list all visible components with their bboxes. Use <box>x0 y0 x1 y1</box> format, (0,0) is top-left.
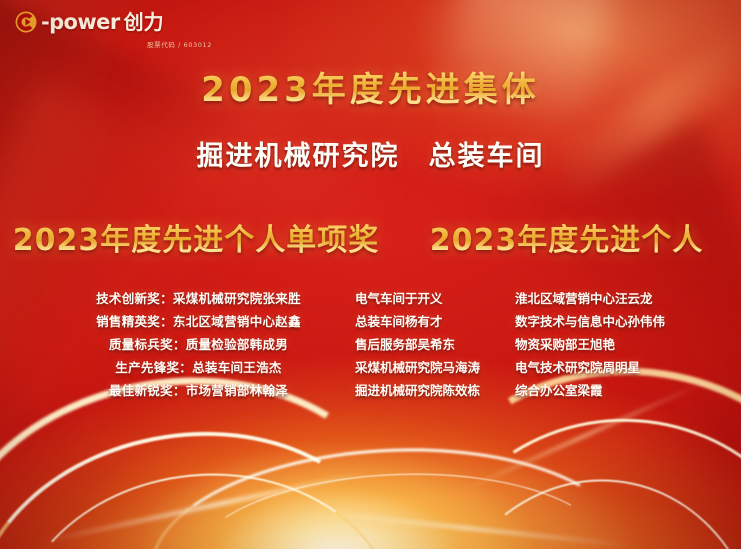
list-item: 最佳新锐奖：市场营销部林翰泽 <box>42 379 355 402</box>
list-item-name: 综合办公室梁霞 <box>515 379 725 402</box>
list-item-name: 电气车间于开义 <box>355 287 515 310</box>
section-heading-individual: 2023年度先进个人 <box>392 215 741 259</box>
list-item: 掘进机械研究院陈效栋 综合办公室梁霞 <box>355 379 741 402</box>
list-item-name: 物资采购部王旭艳 <box>515 333 725 356</box>
section-heading-special-award: 2023年度先进个人单项奖 <box>0 215 392 259</box>
logo-wordmark-cn: 创力 <box>124 12 164 32</box>
individual-award-list: 电气车间于开义 淮北区域营销中心汪云龙 总装车间杨有才 数字技术与信息中心孙伟伟… <box>355 287 741 402</box>
list-item-name: 掘进机械研究院陈效栋 <box>355 379 515 402</box>
section-headings: 2023年度先进个人单项奖 2023年度先进个人 <box>0 215 741 259</box>
list-item-name: 电气技术研究院周明星 <box>515 356 725 379</box>
list-item: 销售精英奖：东北区域营销中心赵鑫 <box>42 310 355 333</box>
list-item: 生产先锋奖：总装车间王浩杰 <box>42 356 355 379</box>
list-item-name: 采煤机械研究院马海涛 <box>355 356 515 379</box>
list-item-name: 售后服务部吴希东 <box>355 333 515 356</box>
c-power-logo-icon <box>14 10 38 34</box>
list-item-name: 淮北区域营销中心汪云龙 <box>515 287 725 310</box>
award-poster: -power 创力 股票代码 / 603012 2023年度先进集体 掘进机械研… <box>0 0 741 549</box>
special-award-list: 技术创新奖：采煤机械研究院张来胜 销售精英奖：东北区域营销中心赵鑫 质量标兵奖：… <box>0 287 355 402</box>
list-item: 技术创新奖：采煤机械研究院张来胜 <box>42 287 355 310</box>
company-logo: -power 创力 股票代码 / 603012 <box>14 10 224 49</box>
list-item-name: 总装车间杨有才 <box>355 310 515 333</box>
list-item: 采煤机械研究院马海涛 电气技术研究院周明星 <box>355 356 741 379</box>
logo-wordmark: -power <box>41 12 120 33</box>
list-item-name: 数字技术与信息中心孙伟伟 <box>515 310 725 333</box>
list-item: 总装车间杨有才 数字技术与信息中心孙伟伟 <box>355 310 741 333</box>
stock-code-label: 股票代码 / 603012 <box>14 39 224 49</box>
page-subtitle: 掘进机械研究院 总装车间 <box>0 134 741 173</box>
list-item: 电气车间于开义 淮北区域营销中心汪云龙 <box>355 287 741 310</box>
award-lists: 技术创新奖：采煤机械研究院张来胜 销售精英奖：东北区域营销中心赵鑫 质量标兵奖：… <box>0 287 741 402</box>
list-item: 售后服务部吴希东 物资采购部王旭艳 <box>355 333 741 356</box>
list-item: 质量标兵奖：质量检验部韩成男 <box>42 333 355 356</box>
page-title: 2023年度先进集体 <box>0 62 741 111</box>
